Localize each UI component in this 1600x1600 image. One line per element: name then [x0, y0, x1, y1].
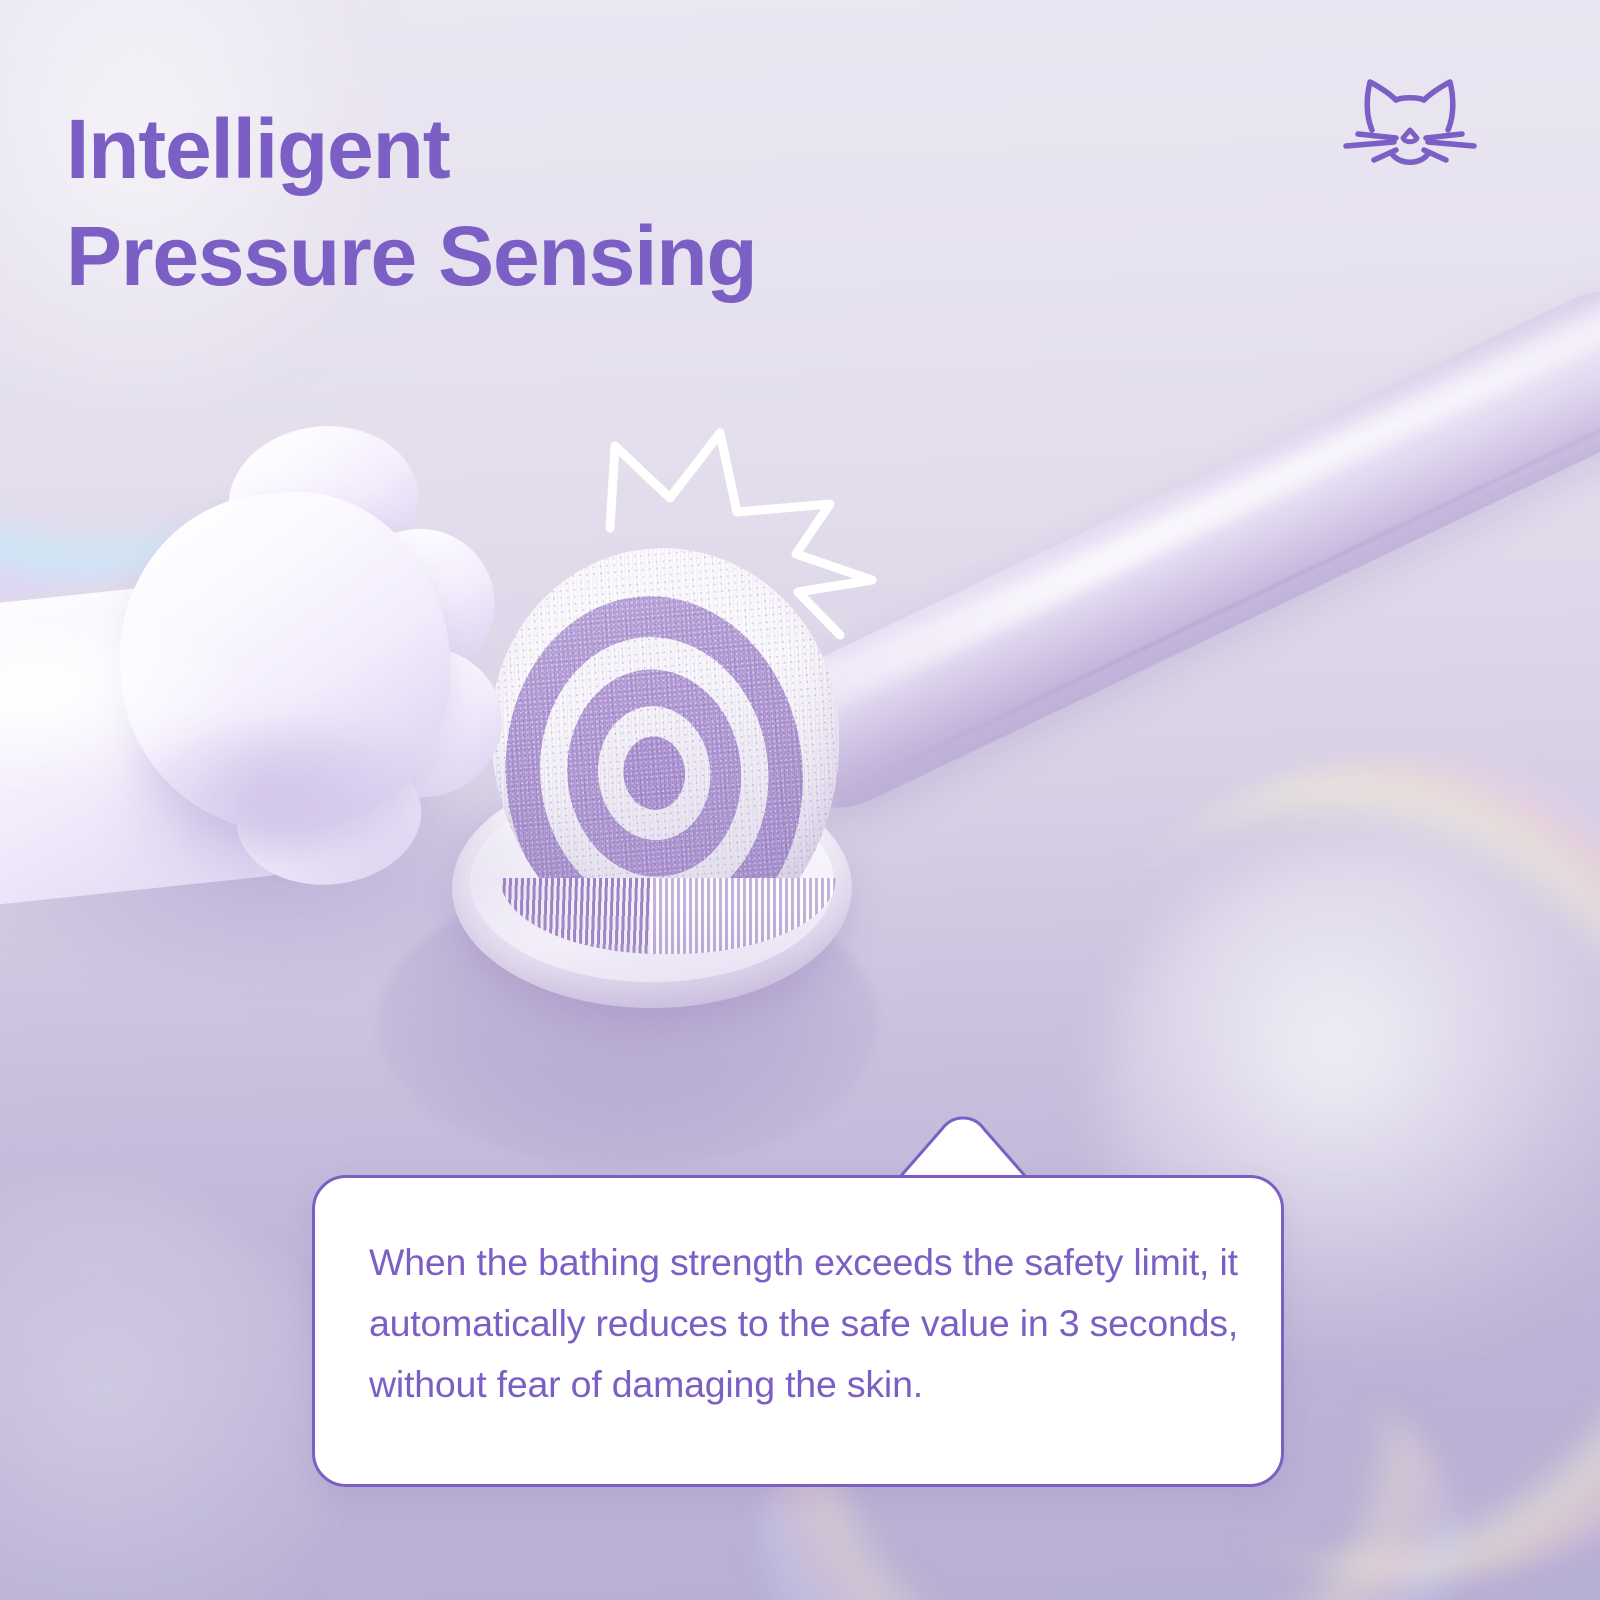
caption-card: When the bathing strength exceeds the sa…	[312, 1175, 1284, 1487]
caption-text: When the bathing strength exceeds the sa…	[369, 1232, 1241, 1414]
handle-edge-line	[802, 383, 1600, 812]
cat-face-icon	[1340, 68, 1480, 178]
product-feature-poster: Intelligent Pressure Sensing When the ba…	[0, 0, 1600, 1600]
bubble-glow-bottom-left-icon	[0, 1180, 340, 1600]
caption-pointer	[898, 1113, 1028, 1179]
handle-specular-highlight	[783, 300, 1600, 727]
cat-paw	[0, 386, 672, 943]
sparkle-burst-icon	[598, 420, 878, 640]
page-title: Intelligent Pressure Sensing	[66, 96, 756, 309]
